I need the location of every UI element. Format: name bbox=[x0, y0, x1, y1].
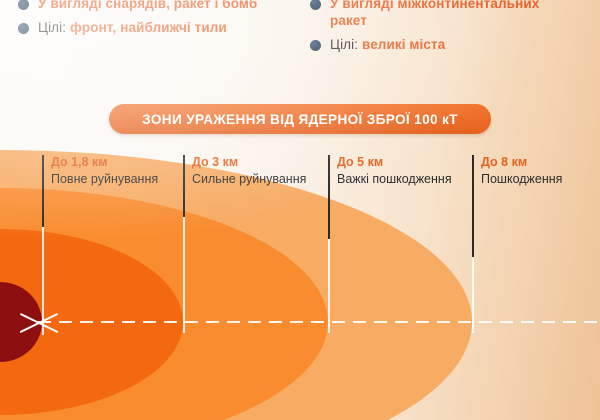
distance-axis-dashed-line bbox=[38, 321, 600, 323]
bullet-dot-icon bbox=[18, 23, 29, 34]
bullet-value: фронт, найближчі тили bbox=[70, 20, 227, 35]
section-title-banner: ЗОНИ УРАЖЕННЯ ВІД ЯДЕРНОЇ ЗБРОЇ 100 кТ bbox=[109, 104, 491, 134]
bullet-dot-icon bbox=[310, 0, 321, 10]
section-title-text: ЗОНИ УРАЖЕННЯ ВІД ЯДЕРНОЇ ЗБРОЇ 100 кТ bbox=[142, 112, 458, 127]
list-item: У вигляді снарядів, ракет і бомб bbox=[18, 0, 288, 12]
bullet-lead: Цілі: bbox=[38, 20, 70, 35]
strategic-weapon-column: У вигляді міжконтинентальних ракет Цілі:… bbox=[310, 0, 578, 60]
nuclear-blast-zones-infographic: До 1,8 км Повне руйнування До 3 км Сильн… bbox=[0, 0, 600, 420]
bullet-dot-icon bbox=[18, 0, 29, 10]
tactical-weapon-column: У вигляді снарядів, ракет і бомб Цілі: ф… bbox=[18, 0, 288, 43]
list-item: Цілі: великі міста bbox=[310, 36, 578, 53]
epicentre-x-marker-icon bbox=[18, 302, 60, 344]
bullet-text: Цілі: фронт, найближчі тили bbox=[38, 19, 227, 36]
list-item: У вигляді міжконтинентальних ракет bbox=[310, 0, 578, 29]
bullet-text: У вигляді снарядів, ракет і бомб bbox=[38, 0, 257, 12]
list-item: Цілі: фронт, найближчі тили bbox=[18, 19, 288, 36]
bullet-dot-icon bbox=[310, 40, 321, 51]
bullet-text: У вигляді міжконтинентальних ракет bbox=[330, 0, 578, 29]
bullet-lead: Цілі: bbox=[330, 37, 362, 52]
weapon-class-bullets: У вигляді снарядів, ракет і бомб Цілі: ф… bbox=[0, 0, 600, 96]
bullet-text: Цілі: великі міста bbox=[330, 36, 445, 53]
bullet-value: великі міста bbox=[362, 37, 445, 52]
